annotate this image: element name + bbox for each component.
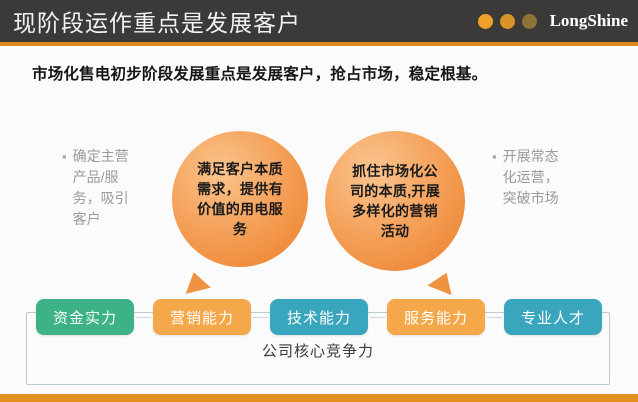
capability-label: 专业人才 (521, 307, 585, 328)
capability-box-marketing[interactable]: 营销能力 (153, 299, 251, 335)
core-competency-caption: 公司核心竞争力 (26, 340, 610, 361)
bullet-marker-icon: ▪ (492, 146, 497, 167)
bullet-left-text: 确定主营产品/服务，吸引客户 (73, 146, 135, 230)
capability-label: 资金实力 (53, 307, 117, 328)
logo-text-lon: Lon (550, 11, 579, 30)
arrow-to-service-icon (427, 268, 458, 295)
capability-connector (253, 317, 268, 318)
circle-right-text: 抓住市场化公司的本质,开展多样化的营销活动 (349, 161, 441, 241)
capability-connector (370, 317, 385, 318)
capability-box-capital[interactable]: 资金实力 (36, 299, 134, 335)
logo-wordmark: LongShine (550, 11, 628, 31)
logo-text-shine: Shine (587, 11, 628, 30)
capability-box-service[interactable]: 服务能力 (387, 299, 485, 335)
capability-label: 营销能力 (170, 307, 234, 328)
capability-box-technology[interactable]: 技术能力 (270, 299, 368, 335)
bullet-right: ▪ 开展常态化运营，突破市场 (492, 146, 565, 209)
capability-label: 技术能力 (287, 307, 351, 328)
logo-dot-2 (500, 14, 515, 29)
footer-accent-bar (0, 394, 638, 402)
slide-root: 现阶段运作重点是发展客户 LongShine 市场化售电初步阶段发展重点是发展客… (0, 0, 638, 402)
subtitle-text: 市场化售电初步阶段发展重点是发展客户，抢占市场，稳定根基。 (32, 62, 612, 84)
bullet-marker-icon: ▪ (62, 146, 67, 167)
logo-dot-1 (478, 14, 493, 29)
capability-box-talent[interactable]: 专业人才 (504, 299, 602, 335)
header-accent-rule (0, 42, 638, 46)
capability-label: 服务能力 (404, 307, 468, 328)
brand-logo: LongShine (478, 0, 628, 42)
bullet-left: ▪ 确定主营产品/服务，吸引客户 (62, 146, 135, 230)
slide-header: 现阶段运作重点是发展客户 LongShine (0, 0, 638, 42)
logo-stylized-g-icon: g (579, 11, 588, 31)
bullet-right-text: 开展常态化运营，突破市场 (503, 146, 565, 209)
capability-connector (136, 317, 151, 318)
circle-customer-needs: 满足客户本质需求，提供有价值的用电服务 (172, 131, 308, 267)
page-title: 现阶段运作重点是发展客户 (13, 4, 301, 38)
arrow-to-marketing-icon (181, 269, 211, 294)
capability-row: 资金实力 营销能力 技术能力 服务能力 专业人才 (36, 299, 602, 335)
logo-dot-3 (522, 14, 537, 29)
capability-connector (487, 317, 502, 318)
circle-left-text: 满足客户本质需求，提供有价值的用电服务 (194, 159, 286, 239)
circle-marketing-activities: 抓住市场化公司的本质,开展多样化的营销活动 (325, 131, 465, 271)
